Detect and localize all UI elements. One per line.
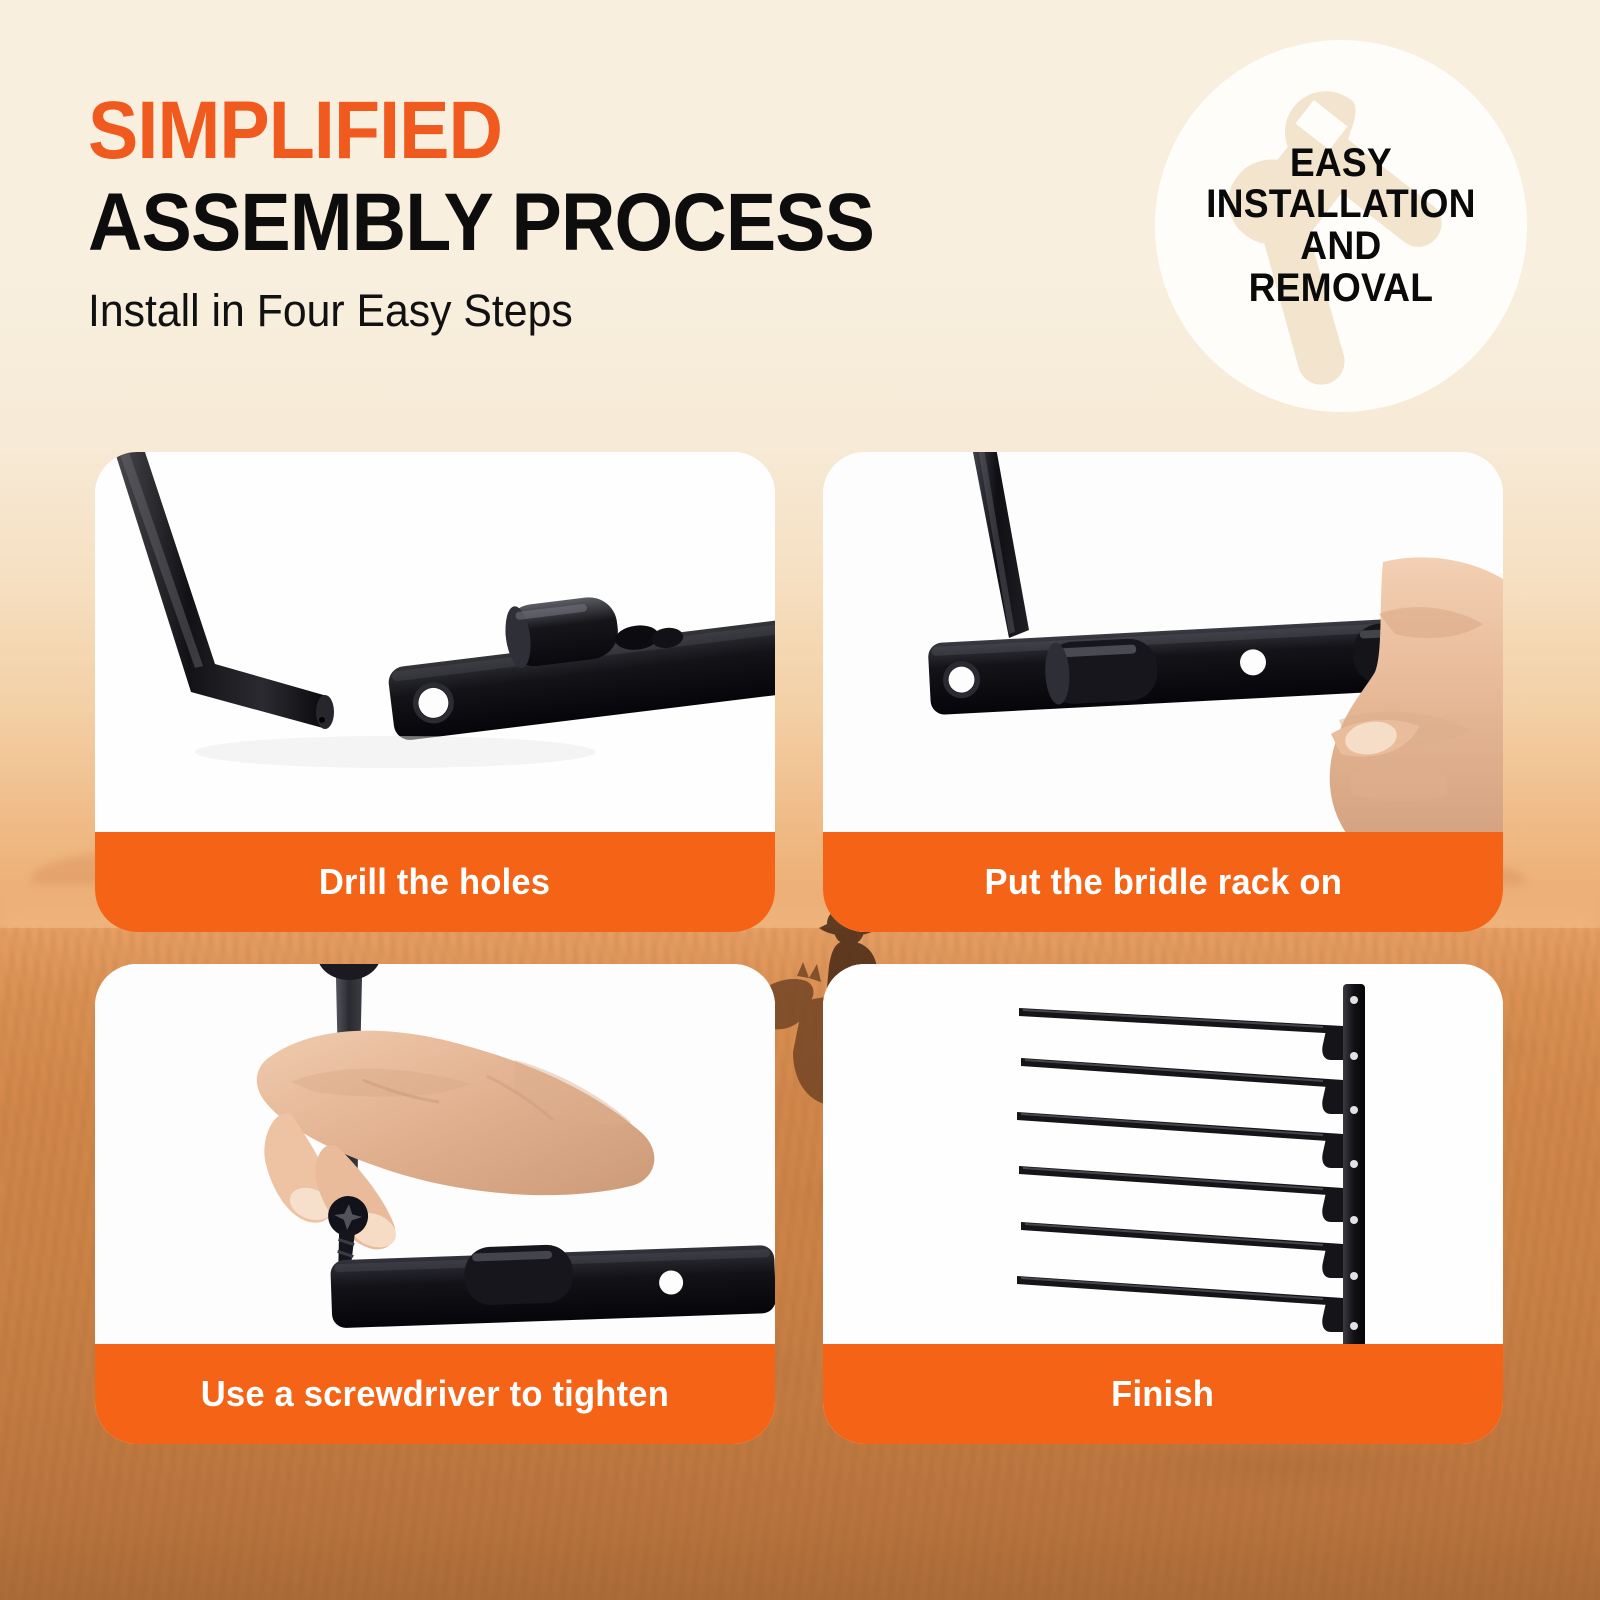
step-3-caption-text: Use a screwdriver to tighten [201, 1373, 669, 1415]
step-2-caption-text: Put the bridle rack on [984, 861, 1342, 903]
badge-line-1: EASY [1206, 143, 1475, 185]
step-4-caption: Finish [823, 1344, 1503, 1444]
page-header: SIMPLIFIED ASSEMBLY PROCESS Install in F… [88, 92, 942, 336]
step-card-1[interactable]: Drill the holes [95, 452, 775, 932]
headline-secondary: ASSEMBLY PROCESS [88, 181, 874, 265]
steps-row-bottom: Use a screwdriver to tighten [95, 964, 1503, 1444]
steps-row-top: Drill the holes [95, 452, 1503, 932]
badge-line-4: REMOVAL [1206, 268, 1475, 310]
step-card-4[interactable]: Finish [823, 964, 1503, 1444]
step-card-2[interactable]: Put the bridle rack on [823, 452, 1503, 932]
easy-installation-badge: EASY INSTALLATION AND REMOVAL [1155, 40, 1527, 412]
step-3-caption: Use a screwdriver to tighten [95, 1344, 775, 1444]
step-2-photo [823, 452, 1503, 832]
step-2-caption: Put the bridle rack on [823, 832, 1503, 932]
step-4-photo [823, 964, 1503, 1344]
step-1-photo [95, 452, 775, 832]
step-3-photo [95, 964, 775, 1344]
step-1-caption-text: Drill the holes [319, 861, 550, 903]
badge-text-block: EASY INSTALLATION AND REMOVAL [1196, 143, 1486, 309]
assembly-steps-grid: Drill the holes [95, 452, 1503, 1444]
headline-primary: SIMPLIFIED [88, 92, 874, 171]
step-4-caption-text: Finish [1112, 1373, 1215, 1415]
step-1-caption: Drill the holes [95, 832, 775, 932]
badge-line-3: AND [1206, 226, 1475, 268]
step-card-3[interactable]: Use a screwdriver to tighten [95, 964, 775, 1444]
badge-line-2: INSTALLATION [1206, 184, 1475, 226]
page-subtitle: Install in Four Easy Steps [88, 286, 900, 336]
